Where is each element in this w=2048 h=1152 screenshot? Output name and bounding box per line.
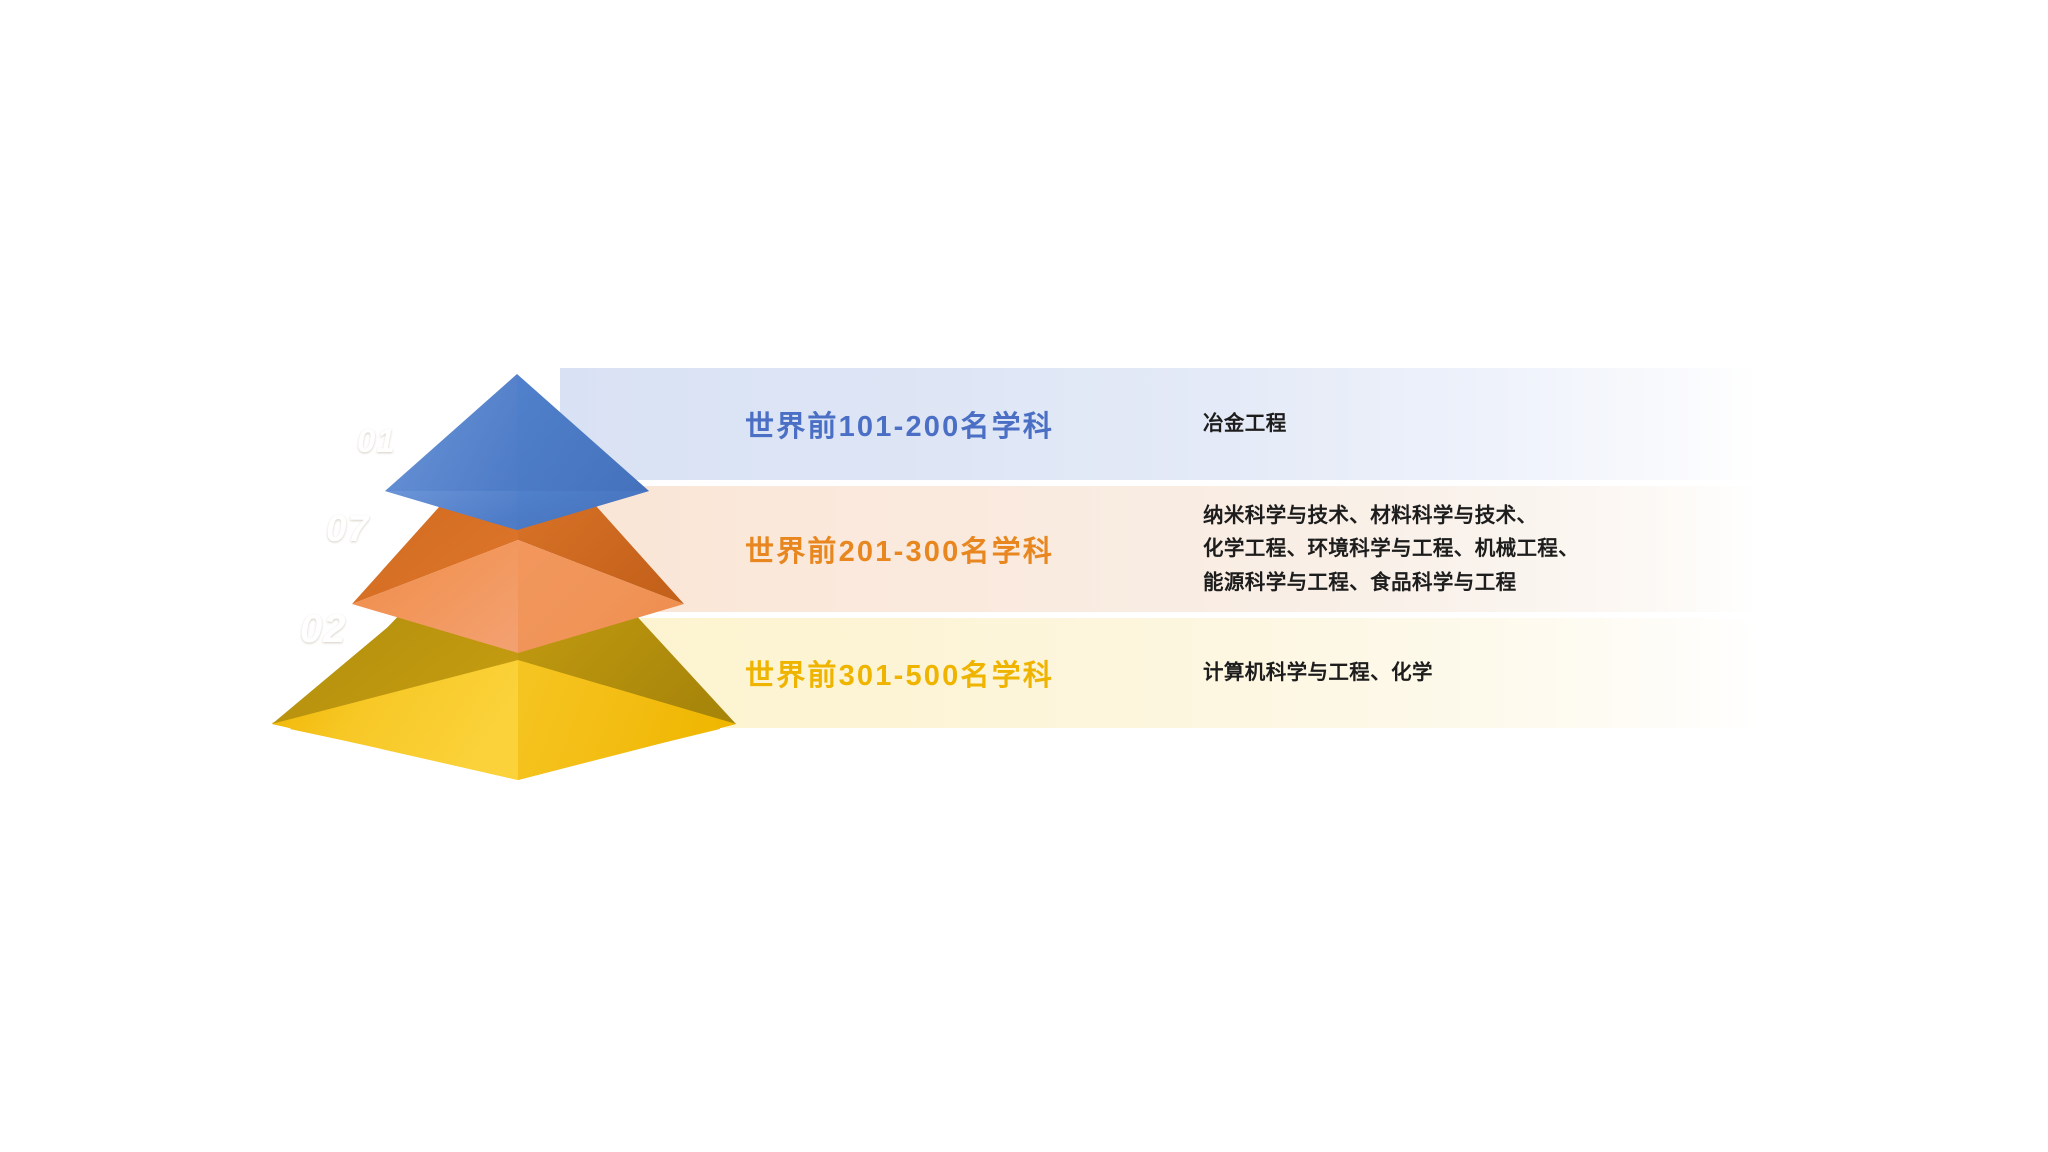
tier-discipline-line: 冶金工程 [1203, 407, 1823, 440]
tier-title-01: 世界前101-200名学科 [745, 403, 1175, 445]
tier-discipline-line: 能源科学与工程、食品科学与工程 [1203, 566, 1823, 599]
tier-disciplines-01: 冶金工程 [1203, 407, 1823, 440]
tier-discipline-line: 计算机科学与工程、化学 [1203, 656, 1823, 689]
tier-title-02: 世界前301-500名学科 [745, 652, 1175, 694]
pyramid-tier-01 [385, 374, 649, 530]
tier-discipline-line: 化学工程、环境科学与工程、机械工程、 [1203, 532, 1823, 565]
tier-title-07: 世界前201-300名学科 [745, 528, 1175, 570]
tier-disciplines-02: 计算机科学与工程、化学 [1203, 656, 1823, 689]
pyramid-graphic: 01 07 02 [270, 360, 790, 800]
tier-discipline-line: 纳米科学与技术、材料科学与技术、 [1203, 499, 1823, 532]
tier-disciplines-07: 纳米科学与技术、材料科学与技术、 化学工程、环境科学与工程、机械工程、 能源科学… [1203, 499, 1823, 599]
infographic-canvas: 世界前101-200名学科 冶金工程 世界前201-300名学科 纳米科学与技术… [0, 0, 2048, 1152]
